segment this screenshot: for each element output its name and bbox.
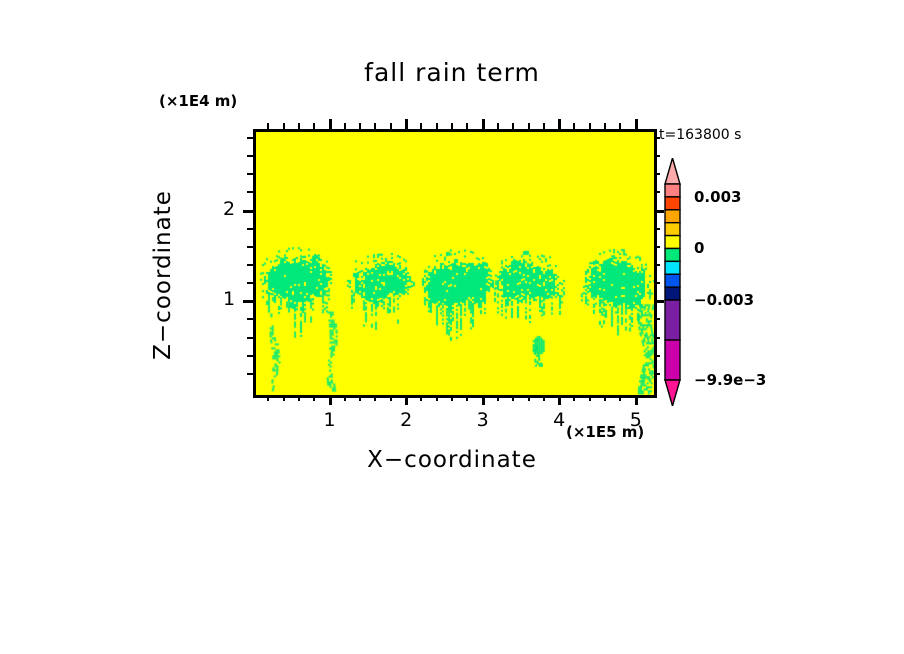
x-tick-major [558, 395, 561, 405]
x-tick-minor-top [619, 123, 621, 129]
x-tick-minor-top [604, 123, 606, 129]
y-tick-minor [247, 337, 253, 339]
y-tick-major-right [654, 300, 664, 303]
x-tick-minor [436, 395, 438, 401]
x-tick-minor [344, 395, 346, 401]
y-axis-title: Z−coordinate [150, 155, 184, 395]
x-tick-minor [528, 395, 530, 401]
x-tick-minor [420, 395, 422, 401]
x-tick-minor [313, 395, 315, 401]
x-tick-label: 2 [400, 409, 412, 431]
x-tick-minor [451, 395, 453, 401]
y-tick-minor-right [654, 355, 660, 357]
y-tick-minor [247, 246, 253, 248]
y-tick-minor [247, 373, 253, 375]
x-tick-label: 3 [477, 409, 489, 431]
y-tick-minor-right [654, 337, 660, 339]
colorbar-band [665, 236, 680, 249]
x-tick-minor-top [573, 123, 575, 129]
x-tick-minor [604, 395, 606, 401]
x-tick-label: 4 [553, 409, 565, 431]
y-tick-minor-right [654, 155, 660, 157]
y-tick-major-right [654, 210, 664, 213]
x-tick-minor [283, 395, 285, 401]
x-tick-minor-top [298, 123, 300, 129]
y-tick-minor [247, 155, 253, 157]
x-tick-minor [497, 395, 499, 401]
x-tick-minor-top [543, 123, 545, 129]
x-tick-label: 1 [324, 409, 336, 431]
colorbar-arrow-bottom [665, 380, 680, 406]
y-tick-minor [247, 191, 253, 193]
x-tick-minor [589, 395, 591, 401]
x-tick-major [405, 395, 408, 405]
colorbar-band [665, 261, 680, 274]
x-tick-major [482, 395, 485, 405]
y-tick-minor [247, 282, 253, 284]
y-tick-minor [247, 173, 253, 175]
colorbar-band [665, 340, 680, 380]
colorbar [664, 158, 681, 406]
x-tick-minor-top [436, 123, 438, 129]
colorbar-arrow-top [665, 158, 680, 184]
y-tick-minor-right [654, 228, 660, 230]
x-tick-minor-top [283, 123, 285, 129]
colorbar-band [665, 184, 680, 197]
y-tick-minor [247, 318, 253, 320]
x-tick-major-top [482, 119, 485, 129]
x-tick-minor [512, 395, 514, 401]
y-tick-minor-right [654, 137, 660, 139]
colorbar-tick-label: −9.9e−3 [694, 371, 766, 389]
y-tick-minor [247, 228, 253, 230]
colorbar-band [665, 274, 680, 287]
time-annotation: t=163800 s [659, 127, 741, 143]
y-axis-unit-label: (×1E4 m) [159, 92, 237, 110]
x-tick-minor [359, 395, 361, 401]
x-tick-minor-top [420, 123, 422, 129]
x-tick-minor-top [267, 123, 269, 129]
x-tick-minor [543, 395, 545, 401]
colorbar-band [665, 223, 680, 236]
y-tick-minor [247, 264, 253, 266]
y-tick-minor-right [654, 246, 660, 248]
y-tick-minor-right [654, 191, 660, 193]
x-tick-minor-top [466, 123, 468, 129]
y-tick-label: 2 [223, 198, 235, 220]
y-tick-minor-right [654, 373, 660, 375]
x-tick-minor [390, 395, 392, 401]
y-tick-label: 1 [223, 288, 235, 310]
y-tick-major [243, 300, 253, 303]
x-tick-minor-top [344, 123, 346, 129]
x-tick-major [329, 395, 332, 405]
colorbar-band [665, 197, 680, 210]
x-tick-major-top [635, 119, 638, 129]
x-tick-minor-top [512, 123, 514, 129]
x-tick-minor [619, 395, 621, 401]
y-tick-minor [247, 137, 253, 139]
y-tick-major [243, 210, 253, 213]
x-tick-minor [573, 395, 575, 401]
x-axis-title: X−coordinate [253, 447, 651, 473]
colorbar-band [665, 300, 680, 340]
x-tick-minor [267, 395, 269, 401]
x-tick-minor-top [451, 123, 453, 129]
x-tick-major-top [558, 119, 561, 129]
y-tick-minor-right [654, 282, 660, 284]
y-tick-minor-right [654, 264, 660, 266]
page-title: fall rain term [253, 58, 651, 87]
x-tick-major-top [329, 119, 332, 129]
x-tick-minor-top [589, 123, 591, 129]
x-tick-minor-top [374, 123, 376, 129]
colorbar-tick-label: 0 [694, 239, 704, 257]
x-tick-major-top [405, 119, 408, 129]
x-tick-minor [466, 395, 468, 401]
x-tick-minor-top [359, 123, 361, 129]
x-tick-minor-top [313, 123, 315, 129]
x-tick-minor [298, 395, 300, 401]
x-axis-unit-label: (×1E5 m) [566, 423, 644, 441]
y-tick-minor-right [654, 318, 660, 320]
y-tick-minor [247, 355, 253, 357]
y-tick-minor-right [654, 173, 660, 175]
x-tick-minor-top [390, 123, 392, 129]
colorbar-band [665, 248, 680, 261]
colorbar-tick-label: −0.003 [694, 291, 754, 309]
x-tick-major [635, 395, 638, 405]
colorbar-tick-label: 0.003 [694, 188, 741, 206]
plot-area [253, 129, 657, 398]
heatmap-canvas [256, 132, 654, 395]
x-tick-minor [374, 395, 376, 401]
figure-canvas: fall rain term (×1E4 m) t=163800 s 12345… [0, 0, 904, 654]
colorbar-band [665, 210, 680, 223]
x-tick-minor-top [528, 123, 530, 129]
x-tick-minor-top [497, 123, 499, 129]
colorbar-band [665, 287, 680, 300]
